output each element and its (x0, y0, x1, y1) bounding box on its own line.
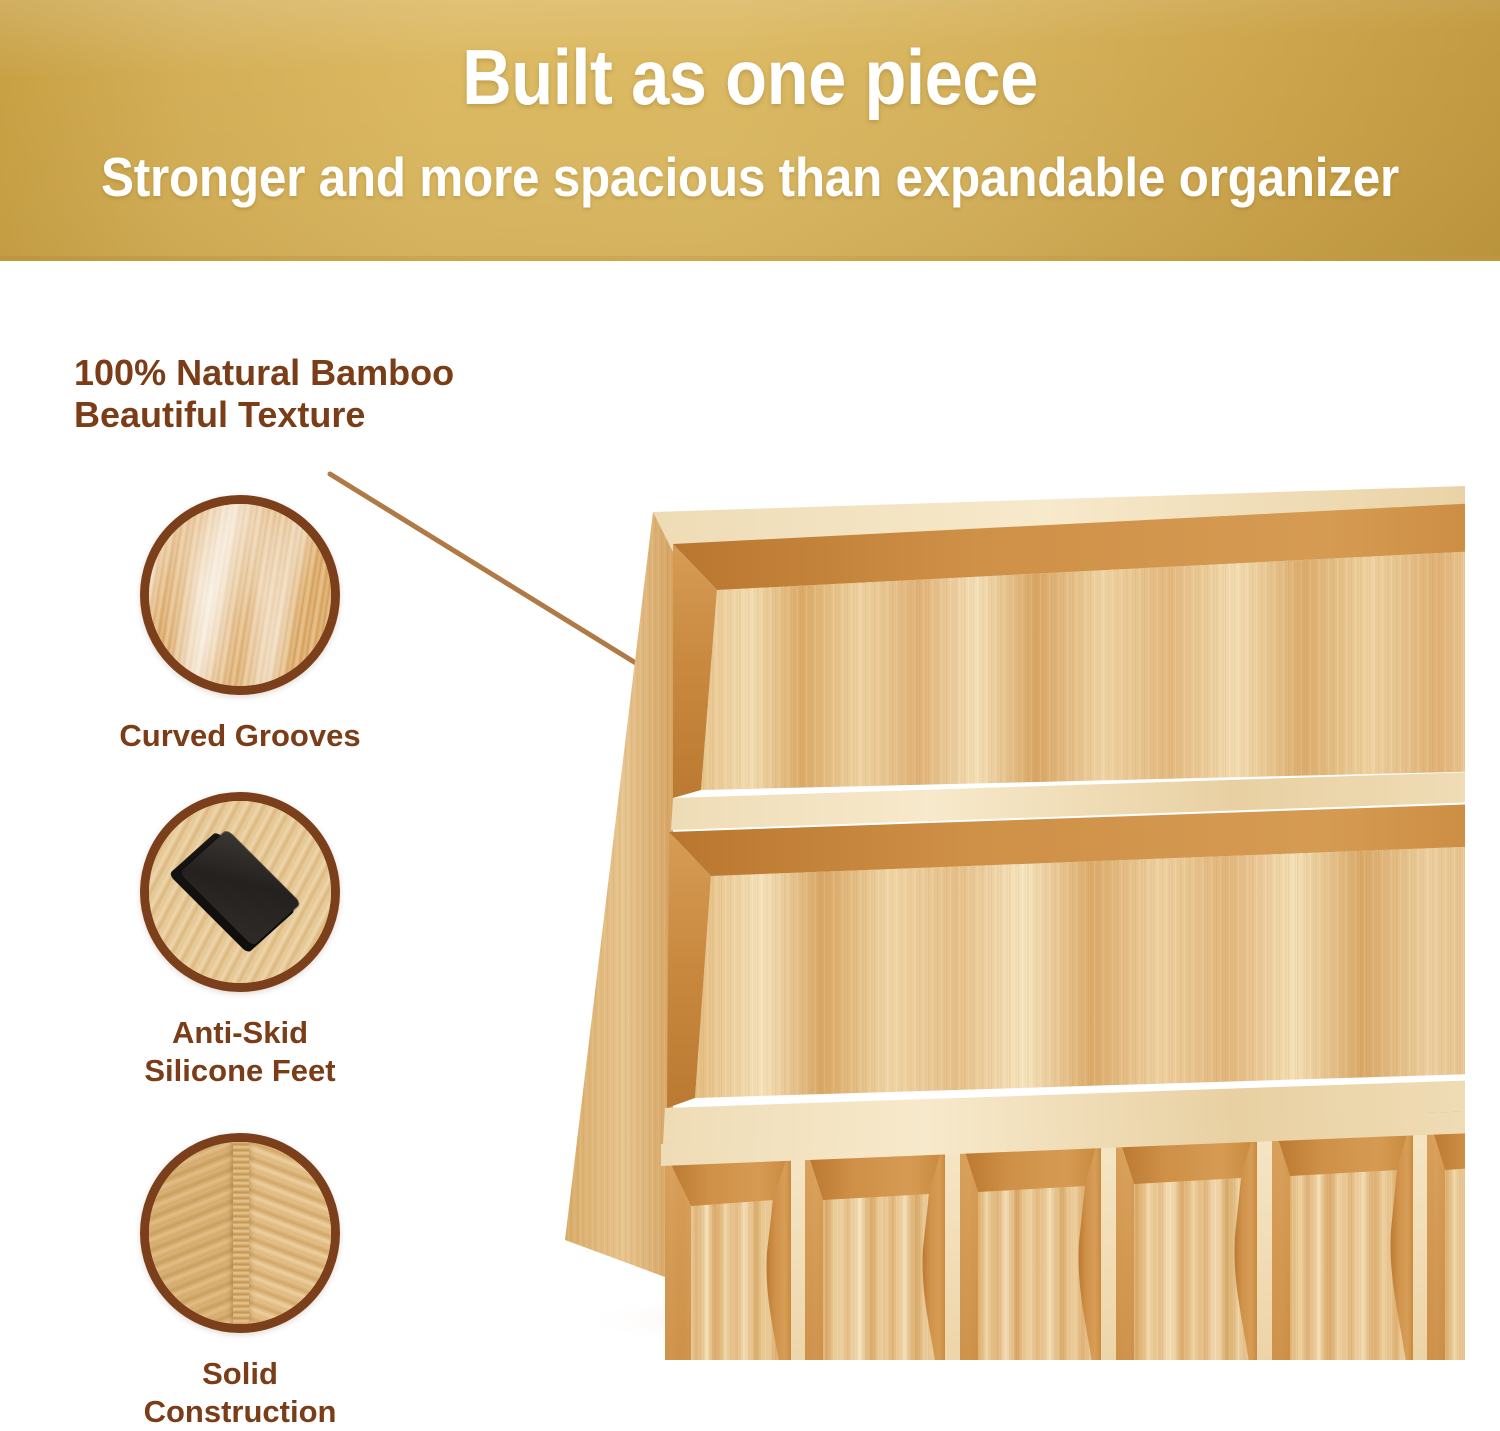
bamboo-drawer-organizer-image (505, 440, 1465, 1360)
curved-bamboo-groove-icon (140, 495, 340, 695)
feature-label-anti-skid-silicone-feet: Anti-Skid Silicone Feet (0, 1014, 480, 1090)
header-banner: Built as one piece Stronger and more spa… (0, 0, 1500, 261)
black-silicone-foot-pad-icon (140, 792, 340, 992)
feature-label-curved-grooves: Curved Grooves (0, 717, 480, 755)
banner-title: Built as one piece (90, 38, 1410, 116)
natural-bamboo-callout-heading: 100% Natural Bamboo Beautiful Texture (74, 352, 634, 437)
feature-solid-construction: Solid Construction (0, 1133, 480, 1431)
bamboo-corner-joint-icon (140, 1133, 340, 1333)
feature-anti-skid-silicone-feet: Anti-Skid Silicone Feet (0, 792, 480, 1090)
feature-label-solid-construction: Solid Construction (0, 1355, 480, 1431)
banner-subtitle: Stronger and more spacious than expandab… (75, 150, 1425, 205)
feature-curved-grooves: Curved Grooves (0, 495, 480, 755)
